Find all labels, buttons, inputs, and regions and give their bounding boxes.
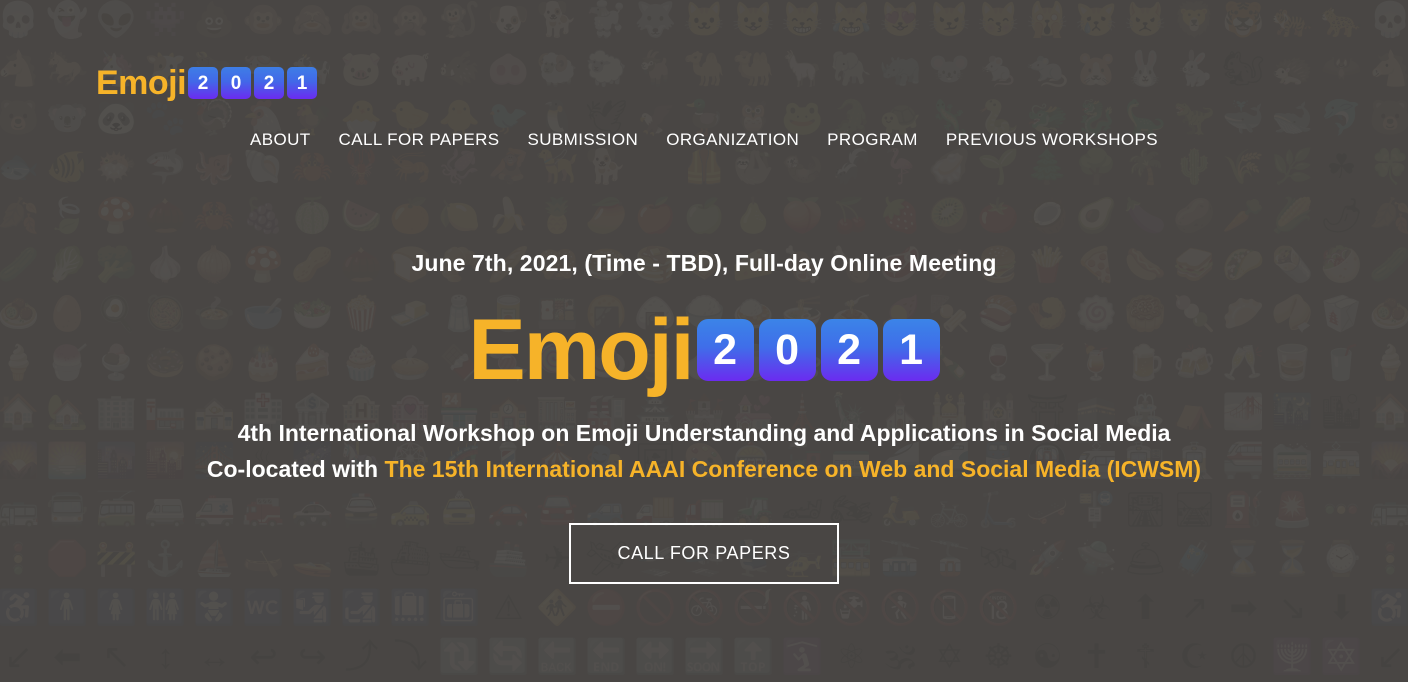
wallpaper-emoji: 🍑 <box>778 192 827 241</box>
wallpaper-emoji: ☣ <box>1072 584 1121 633</box>
wallpaper-emoji: 🚭 <box>729 584 778 633</box>
wallpaper-emoji: 🍉 <box>337 192 386 241</box>
wallpaper-emoji: 🦀 <box>190 192 239 241</box>
hero-content: June 7th, 2021, (Time - TBD), Full-day O… <box>0 250 1408 584</box>
wallpaper-emoji: 🍆 <box>1121 192 1170 241</box>
wallpaper-emoji: ↕ <box>141 633 190 682</box>
hero-logo: Emoji 2 0 2 1 <box>0 307 1408 393</box>
wallpaper-emoji: 🔚 <box>582 633 631 682</box>
wallpaper-emoji: 🍂 <box>1366 192 1408 241</box>
wallpaper-emoji: ☢ <box>1023 584 1072 633</box>
wallpaper-emoji: ↖ <box>92 633 141 682</box>
wallpaper-emoji: 🍅 <box>974 192 1023 241</box>
wallpaper-emoji: 🥭 <box>582 192 631 241</box>
workshop-title: 4th International Workshop on Emoji Unde… <box>0 420 1408 447</box>
brand-word: Emoji <box>96 66 186 100</box>
nav-about[interactable]: ABOUT <box>250 130 311 150</box>
wallpaper-emoji: 🔄 <box>484 633 533 682</box>
cta-wrapper: CALL FOR PAPERS <box>0 523 1408 584</box>
wallpaper-emoji: 🛐 <box>778 633 827 682</box>
wallpaper-emoji: ⤴ <box>337 633 386 682</box>
nav-previous-workshops[interactable]: PREVIOUS WORKSHOPS <box>946 130 1158 150</box>
wallpaper-emoji: 🔝 <box>729 633 778 682</box>
wallpaper-emoji: 🚷 <box>876 584 925 633</box>
meeting-date: June 7th, 2021, (Time - TBD), Full-day O… <box>0 250 1408 277</box>
wallpaper-emoji: 🚹 <box>43 584 92 633</box>
hero-tile-2: 0 <box>759 319 816 381</box>
brand-tile-2: 0 <box>221 67 251 99</box>
wallpaper-emoji: 🍒 <box>827 192 876 241</box>
wallpaper-emoji: ⬅ <box>43 633 92 682</box>
wallpaper-emoji: ♿ <box>1366 584 1408 633</box>
wallpaper-emoji: 🕉 <box>876 633 925 682</box>
wallpaper-emoji: 🚺 <box>92 584 141 633</box>
hero-tile-4: 1 <box>883 319 940 381</box>
wallpaper-emoji: 🔙 <box>533 633 582 682</box>
wallpaper-emoji: 🌰 <box>141 192 190 241</box>
wallpaper-emoji: 🍇 <box>239 192 288 241</box>
wallpaper-emoji: 📵 <box>925 584 974 633</box>
wallpaper-emoji: 🍏 <box>680 192 729 241</box>
nav-call-for-papers[interactable]: CALL FOR PAPERS <box>339 130 500 150</box>
wallpaper-emoji: 🥑 <box>1072 192 1121 241</box>
wallpaper-emoji: 🍌 <box>484 192 533 241</box>
wallpaper-emoji: 🌽 <box>1268 192 1317 241</box>
wallpaper-emoji: ✝ <box>1072 633 1121 682</box>
wallpaper-emoji: ↩ <box>239 633 288 682</box>
wallpaper-emoji: 🛅 <box>435 584 484 633</box>
main-navigation: ABOUT CALL FOR PAPERS SUBMISSION ORGANIZ… <box>0 130 1408 150</box>
wallpaper-emoji: 🚸 <box>533 584 582 633</box>
brand-year-tiles: 2 0 2 1 <box>188 67 317 99</box>
wallpaper-emoji: 🚫 <box>631 584 680 633</box>
wallpaper-emoji: ⬆ <box>1121 584 1170 633</box>
wallpaper-emoji: 🍎 <box>631 192 680 241</box>
conference-link[interactable]: The 15th International AAAI Conference o… <box>385 456 1202 482</box>
wallpaper-emoji: 🚯 <box>778 584 827 633</box>
colocated-line: Co-located with The 15th International A… <box>0 456 1408 483</box>
wallpaper-emoji: 🍓 <box>876 192 925 241</box>
wallpaper-emoji: 🚾 <box>239 584 288 633</box>
wallpaper-emoji: 🚻 <box>141 584 190 633</box>
wallpaper-emoji: ⤵ <box>386 633 435 682</box>
brand-tile-4: 1 <box>287 67 317 99</box>
wallpaper-emoji: 🌶 <box>1317 192 1366 241</box>
wallpaper-emoji: ☮ <box>1219 633 1268 682</box>
call-for-papers-button[interactable]: CALL FOR PAPERS <box>569 523 838 584</box>
wallpaper-emoji: 🚼 <box>190 584 239 633</box>
brand-tile-3: 2 <box>254 67 284 99</box>
wallpaper-emoji: ➡ <box>1219 584 1268 633</box>
brand-logo[interactable]: Emoji 2 0 2 1 <box>96 66 317 100</box>
wallpaper-emoji: 🔛 <box>631 633 680 682</box>
hero-year-tiles: 2 0 2 1 <box>697 319 940 381</box>
wallpaper-emoji: 🛃 <box>337 584 386 633</box>
wallpaper-emoji: 🍄 <box>92 192 141 241</box>
wallpaper-emoji: 🕎 <box>1268 633 1317 682</box>
wallpaper-emoji: ↘ <box>1268 584 1317 633</box>
wallpaper-emoji: 🍂 <box>0 192 43 241</box>
wallpaper-emoji: 🍍 <box>533 192 582 241</box>
wallpaper-emoji: ☸ <box>974 633 1023 682</box>
wallpaper-emoji: 🍃 <box>43 192 92 241</box>
wallpaper-emoji: ⚠ <box>484 584 533 633</box>
wallpaper-emoji: ↗ <box>1170 584 1219 633</box>
wallpaper-emoji: 🔞 <box>974 584 1023 633</box>
hero-tile-1: 2 <box>697 319 754 381</box>
wallpaper-emoji: ⬇ <box>1317 584 1366 633</box>
wallpaper-emoji: ☦ <box>1121 633 1170 682</box>
wallpaper-emoji: 🛂 <box>288 584 337 633</box>
wallpaper-emoji: ↪ <box>288 633 337 682</box>
wallpaper-emoji: 🍋 <box>435 192 484 241</box>
wallpaper-emoji: ↙ <box>0 633 43 682</box>
nav-organization[interactable]: ORGANIZATION <box>666 130 799 150</box>
wallpaper-emoji: ⚛ <box>827 633 876 682</box>
wallpaper-emoji: ♿ <box>0 584 43 633</box>
wallpaper-emoji: ↔ <box>190 633 239 682</box>
wallpaper-emoji: 🔯 <box>1317 633 1366 682</box>
wallpaper-emoji: 🥔 <box>1170 192 1219 241</box>
wallpaper-emoji: 🔃 <box>435 633 484 682</box>
wallpaper-emoji: 🍊 <box>386 192 435 241</box>
nav-program[interactable]: PROGRAM <box>827 130 918 150</box>
wallpaper-emoji: 🍐 <box>729 192 778 241</box>
wallpaper-emoji: 🍈 <box>288 192 337 241</box>
wallpaper-emoji: 🛄 <box>386 584 435 633</box>
wallpaper-emoji: ↙ <box>1366 633 1408 682</box>
wallpaper-emoji: 🥥 <box>1023 192 1072 241</box>
hero-tile-3: 2 <box>821 319 878 381</box>
wallpaper-emoji: 🥕 <box>1219 192 1268 241</box>
hero-banner: 💀👻👽👾💩🐵🙈🙉🙊🐒🐶🐕🐩🐺🐱😺😸😹😻😼😽🙀😿😾🦁🐯🐅🐆💀🐴🐎🦄🐮🐂🐃🐄🐷🐖🐗🐽… <box>0 0 1408 682</box>
wallpaper-emoji: ⛔ <box>582 584 631 633</box>
wallpaper-emoji: ☯ <box>1023 633 1072 682</box>
colocated-prefix: Co-located with <box>207 456 385 482</box>
wallpaper-emoji: 🔜 <box>680 633 729 682</box>
wallpaper-emoji: ✡ <box>925 633 974 682</box>
wallpaper-emoji: 🚳 <box>680 584 729 633</box>
wallpaper-emoji: 🥝 <box>925 192 974 241</box>
hero-logo-word: Emoji <box>468 307 692 393</box>
brand-tile-1: 2 <box>188 67 218 99</box>
wallpaper-emoji: 🚱 <box>827 584 876 633</box>
site-header: Emoji 2 0 2 1 ABOUT CALL FOR PAPERS SUBM… <box>0 0 1408 168</box>
nav-submission[interactable]: SUBMISSION <box>527 130 638 150</box>
wallpaper-emoji: ☪ <box>1170 633 1219 682</box>
